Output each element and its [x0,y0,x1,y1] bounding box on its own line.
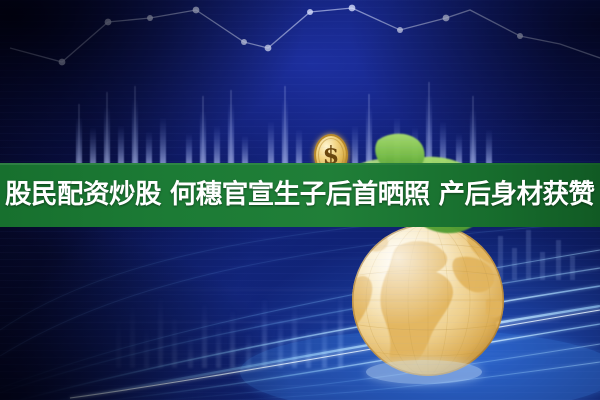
banner-image: $ 股民配资炒股 何穗官宣生子后首晒照 产后身材获赞 [0,0,600,400]
headline-text: 股民配资炒股 何穗官宣生子后首晒照 产后身材获赞 [0,182,594,209]
headline-band: 股民配资炒股 何穗官宣生子后首晒照 产后身材获赞 [0,163,600,227]
